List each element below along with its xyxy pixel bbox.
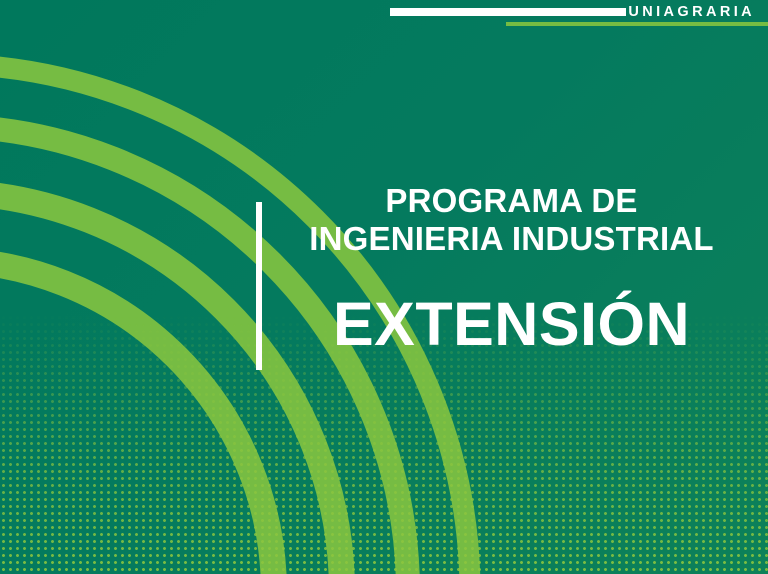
slide-header: UNIAGRARIA	[0, 0, 768, 30]
program-title: PROGRAMA DE INGENIERIA INDUSTRIAL	[262, 182, 761, 258]
header-accent-line	[506, 22, 768, 26]
section-title: EXTENSIÓN	[262, 290, 761, 358]
header-white-rule	[390, 8, 626, 16]
brand-logotype: UNIAGRARIA	[628, 4, 755, 21]
program-title-line-1: PROGRAMA DE	[262, 182, 761, 220]
headline-text-group: PROGRAMA DE INGENIERIA INDUSTRIAL EXTENS…	[262, 202, 761, 370]
program-title-line-2: INGENIERIA INDUSTRIAL	[262, 220, 761, 258]
presentation-slide: UNIAGRARIA PROGRAMA DE INGENIERIA INDUST…	[0, 0, 768, 574]
headline-block: PROGRAMA DE INGENIERIA INDUSTRIAL EXTENS…	[256, 202, 761, 370]
